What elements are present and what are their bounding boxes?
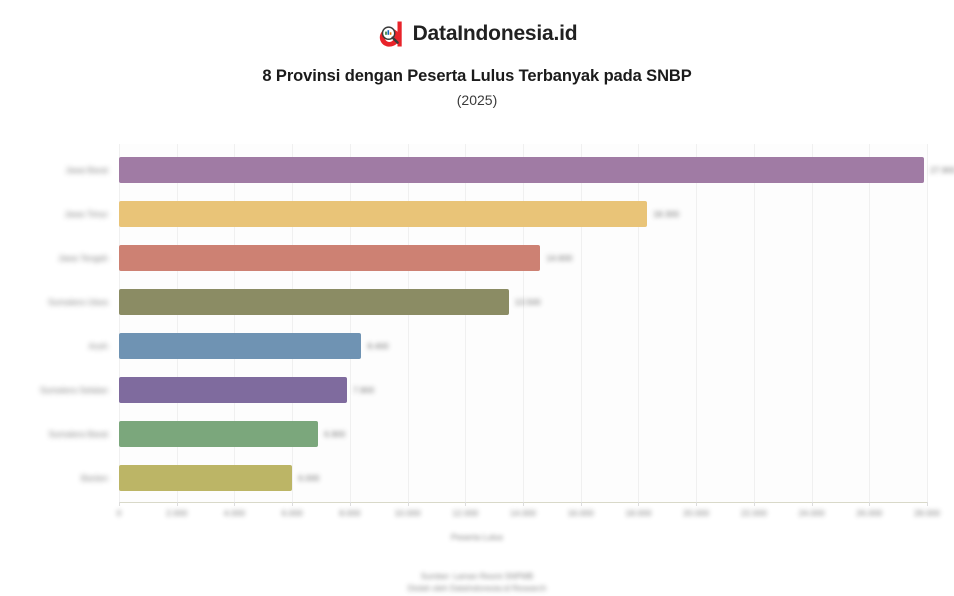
x-axis-tick-mark (638, 502, 639, 506)
bar-row[interactable]: Jawa Tengah14.600 (0, 236, 954, 280)
bar-value-label: 8.400 (367, 341, 388, 351)
x-axis-tick-label: 22.000 (741, 508, 767, 518)
x-axis-tick-label: 4.000 (224, 508, 245, 518)
x-axis-tick-label: 28.000 (914, 508, 940, 518)
bar[interactable] (119, 465, 292, 491)
x-axis-tick-labels: 02.0004.0006.0008.00010.00012.00014.0001… (0, 508, 954, 524)
x-axis-tick-label: 8.000 (339, 508, 360, 518)
bar-rows: Jawa Barat27.900Jawa Timur18.300Jawa Ten… (0, 144, 954, 502)
category-label: Sumatera Selatan (0, 385, 108, 396)
x-axis-tick-mark (408, 502, 409, 506)
bar-chart: Jawa Barat27.900Jawa Timur18.300Jawa Ten… (0, 144, 954, 509)
bar-value-label: 7.900 (353, 385, 374, 395)
bar-row[interactable]: Sumatera Selatan7.900 (0, 368, 954, 412)
category-label: Sumatera Utara (0, 297, 108, 308)
page-title: 8 Provinsi dengan Peserta Lulus Terbanya… (0, 67, 954, 86)
category-label: Aceh (0, 341, 108, 352)
category-label: Banten (0, 473, 108, 484)
bar-value-label: 6.000 (298, 473, 319, 483)
brand-name: DataIndonesia.id (413, 22, 578, 46)
bar[interactable] (119, 421, 318, 447)
x-axis-tick-marks (0, 502, 954, 507)
x-axis-tick-label: 12.000 (452, 508, 478, 518)
x-axis-tick-mark (869, 502, 870, 506)
bar-value-label: 13.500 (515, 297, 541, 307)
category-label: Jawa Timur (0, 209, 108, 220)
x-axis-title: Peserta Lulus (0, 532, 954, 542)
bar-row[interactable]: Jawa Barat27.900 (0, 148, 954, 192)
bar[interactable] (119, 289, 509, 315)
bar-value-label: 6.900 (324, 429, 345, 439)
x-axis-tick-mark (754, 502, 755, 506)
source-line-2: Diolah oleh DataIndonesia.id Research (0, 583, 954, 595)
page-subtitle: (2025) (0, 92, 954, 108)
category-label: Jawa Tengah (0, 253, 108, 264)
x-axis-tick-mark (292, 502, 293, 506)
x-axis-tick-mark (523, 502, 524, 506)
bar-value-label: 14.600 (546, 253, 572, 263)
bar[interactable] (119, 157, 924, 183)
x-axis-tick-label: 24.000 (799, 508, 825, 518)
bar-row[interactable]: Sumatera Utara13.500 (0, 280, 954, 324)
x-axis-tick-mark (177, 502, 178, 506)
x-axis-tick-label: 6.000 (282, 508, 303, 518)
x-axis-tick-mark (350, 502, 351, 506)
bar-row[interactable]: Aceh8.400 (0, 324, 954, 368)
x-axis-tick-label: 18.000 (625, 508, 651, 518)
source-line-1: Sumber: Laman Resmi SNPMB (0, 571, 954, 583)
x-axis-tick-mark (581, 502, 582, 506)
bar-row[interactable]: Jawa Timur18.300 (0, 192, 954, 236)
x-axis-tick-mark (696, 502, 697, 506)
x-axis-tick-label: 20.000 (683, 508, 709, 518)
magnifier-d-logo-icon (377, 20, 403, 48)
bar[interactable] (119, 201, 647, 227)
x-axis-tick-mark (234, 502, 235, 506)
bar-value-label: 18.300 (653, 209, 679, 219)
x-axis-tick-mark (465, 502, 466, 506)
x-axis-tick-label: 10.000 (395, 508, 421, 518)
x-axis-tick-mark (812, 502, 813, 506)
bar-row[interactable]: Sumatera Barat6.900 (0, 412, 954, 456)
category-label: Jawa Barat (0, 165, 108, 176)
x-axis-tick-mark (927, 502, 928, 506)
x-axis-tick-label: 2.000 (166, 508, 187, 518)
source-footnote: Sumber: Laman Resmi SNPMB Diolah oleh Da… (0, 571, 954, 594)
x-axis-tick-label: 14.000 (510, 508, 536, 518)
brand-header: DataIndonesia.id (0, 19, 954, 49)
category-label: Sumatera Barat (0, 429, 108, 440)
bar[interactable] (119, 333, 361, 359)
x-axis-tick-label: 16.000 (568, 508, 594, 518)
x-axis-tick-label: 26.000 (856, 508, 882, 518)
bar[interactable] (119, 377, 347, 403)
bar[interactable] (119, 245, 540, 271)
x-axis-tick-mark (119, 502, 120, 506)
bar-value-label: 27.900 (930, 165, 954, 175)
bar-row[interactable]: Banten6.000 (0, 456, 954, 500)
x-axis-tick-label: 0 (117, 508, 122, 518)
